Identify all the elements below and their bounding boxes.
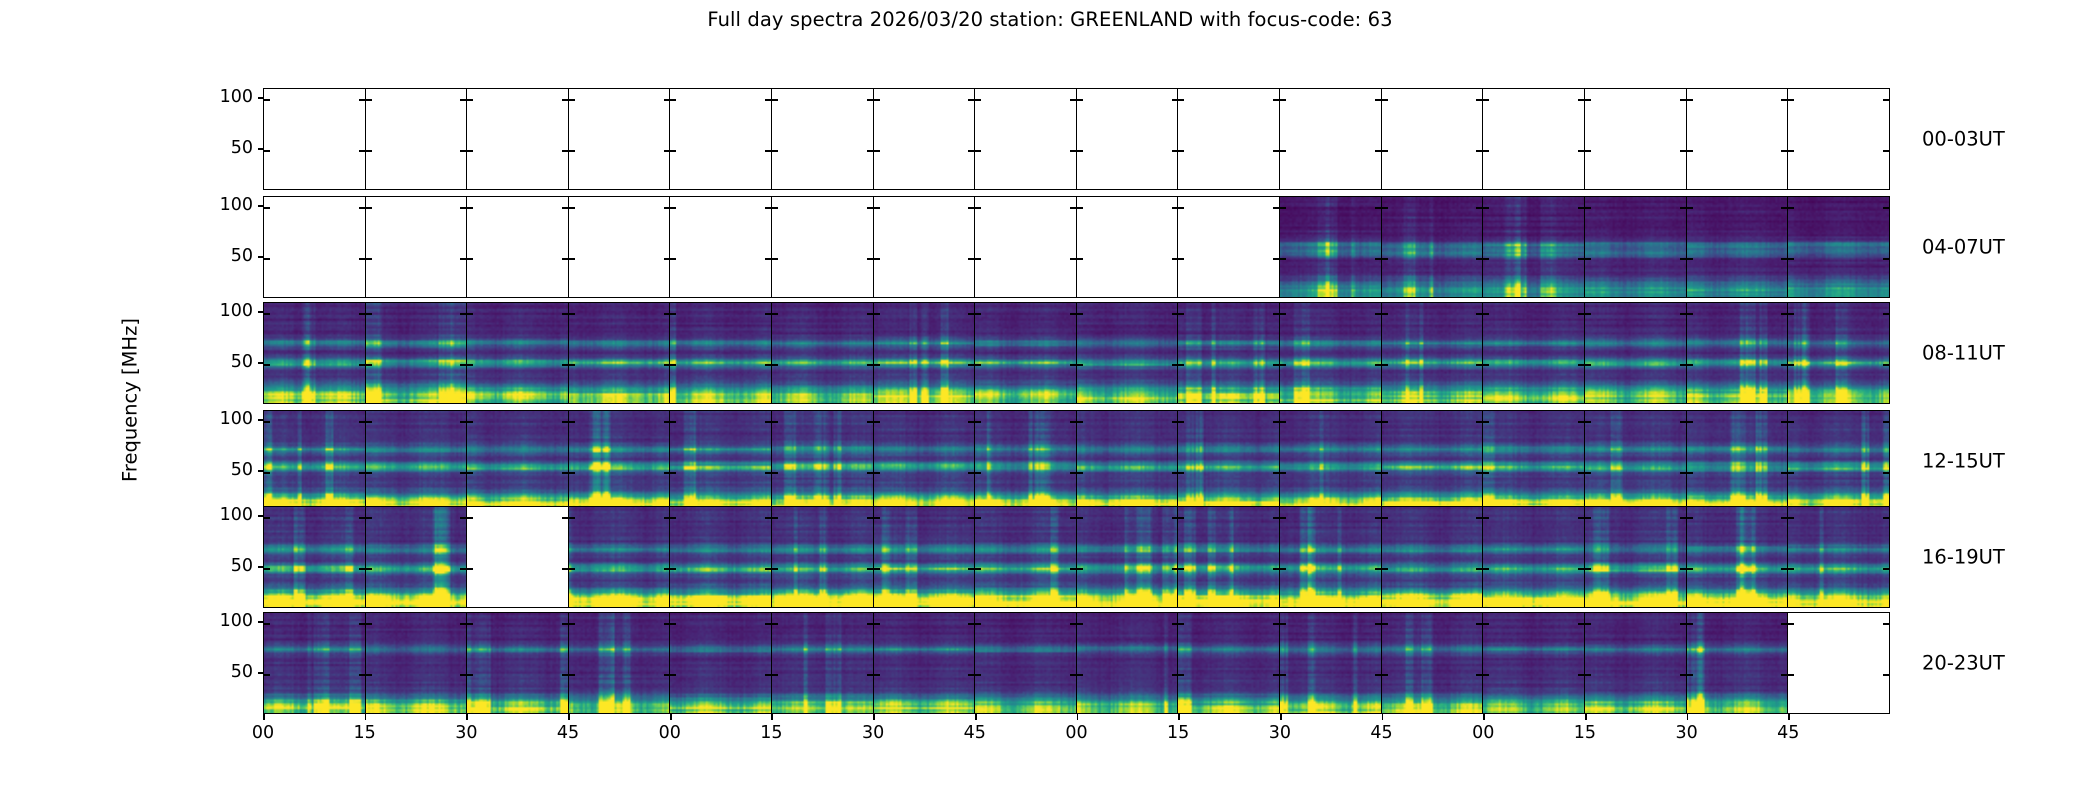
spectrogram-panel[interactable]: [365, 88, 468, 190]
y-tick-mark: [1280, 623, 1286, 625]
y-tick-mark: [562, 421, 568, 423]
y-tick-mark: [1883, 258, 1889, 260]
spectrogram-image: [1687, 303, 1788, 403]
spectrogram-panel[interactable]: [1076, 196, 1179, 298]
y-tick-mark: [562, 674, 568, 676]
spectrogram-image: [670, 303, 771, 403]
y-tick-mark: [1781, 517, 1787, 519]
spectrogram-panel[interactable]: [1686, 506, 1789, 608]
spectrogram-panel[interactable]: [1787, 612, 1890, 714]
spectrogram-panel[interactable]: [1584, 88, 1687, 190]
spectrogram-panel[interactable]: [974, 506, 1077, 608]
spectrogram-image: [1483, 613, 1584, 713]
spectrogram-panel[interactable]: [466, 88, 569, 190]
y-tick-mark: [867, 421, 873, 423]
y-tick-mark: [1585, 364, 1591, 366]
y-tick-mark: [467, 313, 473, 315]
y-tick-mark: [1172, 472, 1178, 474]
spectrogram-panel[interactable]: [263, 410, 366, 512]
y-tick-mark: [874, 421, 880, 423]
spectrogram-panel[interactable]: [1482, 410, 1585, 512]
spectrogram-panel[interactable]: [669, 302, 772, 404]
spectrogram-panel[interactable]: [669, 88, 772, 190]
spectrogram-panel[interactable]: [1686, 410, 1789, 512]
y-tick-mark: [569, 150, 575, 152]
x-tick-label: 00: [1472, 723, 1494, 743]
spectrogram-panel[interactable]: [1787, 410, 1890, 512]
y-tick-mark: [1483, 472, 1489, 474]
y-tick-mark: [1687, 674, 1693, 676]
y-tick-mark: [975, 207, 981, 209]
y-tick-mark: [1280, 472, 1286, 474]
spectrogram-panel[interactable]: [669, 196, 772, 298]
y-tick-mark: [867, 568, 873, 570]
y-tick-mark: [1788, 674, 1794, 676]
y-tick-mark: [1273, 421, 1279, 423]
y-tick-mark: [975, 364, 981, 366]
y-tick-mark: [258, 515, 264, 517]
spectrogram-panel[interactable]: [263, 506, 366, 608]
y-tick-mark: [264, 472, 270, 474]
y-tick-mark: [670, 207, 676, 209]
spectrogram-image: [1382, 303, 1483, 403]
spectrogram-image: [1483, 507, 1584, 607]
spectrogram-panel[interactable]: [1482, 88, 1585, 190]
y-tick-mark: [1070, 258, 1076, 260]
y-tick-mark: [1178, 207, 1184, 209]
x-tick-label: 45: [1370, 723, 1392, 743]
y-tick-mark: [1273, 150, 1279, 152]
y-tick-mark: [1680, 313, 1686, 315]
y-tick-mark: [1172, 258, 1178, 260]
spectrogram-panel[interactable]: [771, 302, 874, 404]
y-tick-mark: [1077, 364, 1083, 366]
spectrogram-image: [1178, 411, 1279, 511]
y-tick-mark: [460, 568, 466, 570]
y-tick-mark: [569, 517, 575, 519]
spectrogram-panel[interactable]: [1076, 612, 1179, 714]
y-tick-mark: [664, 517, 670, 519]
spectrogram-panel[interactable]: [1482, 612, 1585, 714]
y-tick-mark: [1578, 150, 1584, 152]
spectrogram-panel[interactable]: [466, 196, 569, 298]
spectrogram-panel[interactable]: [669, 612, 772, 714]
y-tick-label: 50: [231, 460, 253, 480]
y-tick-mark: [1172, 421, 1178, 423]
y-tick-mark: [366, 258, 372, 260]
spectrogram-image: [670, 411, 771, 511]
spectrogram-panel[interactable]: [1177, 506, 1280, 608]
y-tick-mark: [366, 517, 372, 519]
y-tick-mark: [1788, 258, 1794, 260]
y-tick-mark: [1178, 568, 1184, 570]
y-tick-mark: [1273, 472, 1279, 474]
y-tick-mark: [1680, 99, 1686, 101]
spectrogram-panel[interactable]: [771, 88, 874, 190]
y-tick-mark: [1375, 623, 1381, 625]
y-tick-mark: [1788, 313, 1794, 315]
y-tick-mark: [765, 313, 771, 315]
y-tick-mark: [1483, 313, 1489, 315]
y-tick-mark: [968, 568, 974, 570]
spectrogram-image: [1687, 411, 1788, 511]
spectrogram-panel[interactable]: [1787, 302, 1890, 404]
y-tick-mark: [460, 517, 466, 519]
y-tick-mark: [874, 258, 880, 260]
spectrogram-image: [772, 507, 873, 607]
spectrogram-panel[interactable]: [466, 506, 569, 608]
y-tick-mark: [1280, 99, 1286, 101]
spectrogram-panel[interactable]: [1686, 302, 1789, 404]
spectrogram-panel[interactable]: [466, 612, 569, 714]
y-tick-mark: [460, 313, 466, 315]
spectrogram-image: [1280, 411, 1381, 511]
spectrogram-image: [772, 303, 873, 403]
spectrogram-panel[interactable]: [873, 410, 976, 512]
y-tick-mark: [467, 623, 473, 625]
y-tick-mark: [1578, 99, 1584, 101]
spectrogram-panel[interactable]: [1076, 506, 1179, 608]
spectrogram-panel[interactable]: [466, 410, 569, 512]
x-tick-label: 45: [964, 723, 986, 743]
spectrogram-panel[interactable]: [1381, 88, 1484, 190]
y-tick-mark: [664, 207, 670, 209]
spectrogram-image: [1483, 197, 1584, 297]
spectrogram-image: [670, 507, 771, 607]
y-tick-mark: [264, 568, 270, 570]
y-tick-mark: [1273, 99, 1279, 101]
y-tick-mark: [1883, 313, 1889, 315]
spectrogram-panel[interactable]: [1686, 196, 1789, 298]
y-tick-mark: [1178, 99, 1184, 101]
y-tick-mark: [664, 99, 670, 101]
y-tick-mark: [1382, 472, 1388, 474]
y-tick-mark: [670, 674, 676, 676]
spectrogram-panel[interactable]: [1381, 410, 1484, 512]
spectrogram-panel[interactable]: [1279, 196, 1382, 298]
row-panels: [263, 302, 1890, 404]
y-tick-mark: [1382, 150, 1388, 152]
y-tick-mark: [874, 364, 880, 366]
spectrogram-panel[interactable]: [1787, 88, 1890, 190]
y-tick-mark: [1781, 207, 1787, 209]
y-tick-mark: [1883, 207, 1889, 209]
spectrogram-panel[interactable]: [669, 506, 772, 608]
y-tick-mark: [1382, 364, 1388, 366]
spectrogram-panel[interactable]: [974, 88, 1077, 190]
spectrogram-panel[interactable]: [1279, 410, 1382, 512]
y-tick-mark: [1883, 150, 1889, 152]
y-tick-mark: [366, 472, 372, 474]
spectrogram-panel[interactable]: [1177, 612, 1280, 714]
spectrogram-panel[interactable]: [1482, 302, 1585, 404]
spectrogram-panel[interactable]: [974, 196, 1077, 298]
y-tick-mark: [1883, 421, 1889, 423]
y-tick-label: 50: [231, 138, 253, 158]
row-time-label: 04-07UT: [1922, 236, 2005, 259]
spectrogram-panel[interactable]: [873, 302, 976, 404]
y-tick-mark: [1578, 623, 1584, 625]
y-tick-mark: [1172, 99, 1178, 101]
spectrogram-panel[interactable]: [568, 88, 671, 190]
y-tick-mark: [1273, 364, 1279, 366]
spectrogram-panel[interactable]: [771, 410, 874, 512]
y-tick-mark: [569, 258, 575, 260]
spectrogram-image: [1382, 411, 1483, 511]
spectrogram-image: [1178, 613, 1279, 713]
spectrogram-panel[interactable]: [1686, 88, 1789, 190]
y-tick-mark: [1585, 674, 1591, 676]
spectrogram-panel[interactable]: [466, 302, 569, 404]
y-tick-mark: [569, 207, 575, 209]
spectrogram-panel[interactable]: [263, 88, 366, 190]
spectrogram-panel[interactable]: [1076, 410, 1179, 512]
y-tick-mark: [1375, 150, 1381, 152]
spectrogram-panel[interactable]: [1381, 506, 1484, 608]
y-tick-mark: [1476, 364, 1482, 366]
y-tick-mark: [1382, 517, 1388, 519]
y-tick-mark: [1788, 472, 1794, 474]
spectrogram-panel[interactable]: [974, 302, 1077, 404]
spectrogram-panel[interactable]: [365, 612, 468, 714]
y-tick-mark: [1476, 258, 1482, 260]
y-tick-mark: [664, 150, 670, 152]
spectrogram-panel[interactable]: [263, 612, 366, 714]
y-tick-mark: [874, 568, 880, 570]
y-tick-mark: [968, 517, 974, 519]
y-tick-mark: [1375, 258, 1381, 260]
spectrogram-panel[interactable]: [1177, 302, 1280, 404]
spectrogram-row: 50100: [263, 506, 1890, 608]
y-tick-mark: [765, 568, 771, 570]
spectrogram-panel[interactable]: [1177, 196, 1280, 298]
y-tick-mark: [460, 207, 466, 209]
spectrogram-panel[interactable]: [365, 302, 468, 404]
x-tick-label: 15: [354, 723, 376, 743]
y-tick-mark: [975, 674, 981, 676]
x-tick-label: 15: [1574, 723, 1596, 743]
spectrogram-panel[interactable]: [669, 410, 772, 512]
spectrogram-panel[interactable]: [1584, 302, 1687, 404]
y-tick-mark: [1687, 150, 1693, 152]
spectrogram-panel[interactable]: [568, 506, 671, 608]
y-tick-mark: [1788, 364, 1794, 366]
y-tick-mark: [460, 674, 466, 676]
y-tick-mark: [467, 207, 473, 209]
y-axis-label: Frequency [MHz]: [119, 318, 142, 482]
y-tick-mark: [1883, 99, 1889, 101]
y-tick-mark: [765, 623, 771, 625]
y-tick-mark: [772, 472, 778, 474]
y-tick-mark: [867, 207, 873, 209]
y-tick-mark: [1788, 623, 1794, 625]
y-tick-mark: [765, 99, 771, 101]
x-tick-mark: [365, 714, 367, 720]
y-tick-mark: [359, 517, 365, 519]
spectrogram-panel[interactable]: [1177, 88, 1280, 190]
y-tick-mark: [670, 623, 676, 625]
x-tick-label: 00: [252, 723, 274, 743]
y-tick-mark: [765, 150, 771, 152]
x-tick-mark: [466, 714, 468, 720]
spectrogram-image: [1382, 507, 1483, 607]
y-tick-mark: [1680, 517, 1686, 519]
y-tick-label: 100: [220, 611, 253, 631]
spectrogram-panel[interactable]: [873, 196, 976, 298]
y-tick-mark: [1781, 150, 1787, 152]
y-tick-mark: [359, 99, 365, 101]
spectrogram-panel[interactable]: [1584, 410, 1687, 512]
y-tick-mark: [1578, 472, 1584, 474]
spectrogram-image: [569, 507, 670, 607]
spectrogram-image: [569, 411, 670, 511]
spectrogram-panel[interactable]: [1279, 302, 1382, 404]
y-tick-mark: [867, 313, 873, 315]
spectrogram-panel[interactable]: [873, 506, 976, 608]
spectrogram-panel[interactable]: [974, 410, 1077, 512]
y-tick-mark: [1375, 472, 1381, 474]
y-tick-mark: [1077, 421, 1083, 423]
y-tick-mark: [1585, 623, 1591, 625]
y-tick-label: 100: [220, 195, 253, 215]
y-tick-mark: [467, 568, 473, 570]
spectrogram-panel[interactable]: [1177, 410, 1280, 512]
y-tick-mark: [867, 517, 873, 519]
spectrogram-panel[interactable]: [1076, 302, 1179, 404]
y-tick-mark: [1178, 150, 1184, 152]
y-tick-mark: [1273, 623, 1279, 625]
y-tick-mark: [359, 421, 365, 423]
spectrogram-panel[interactable]: [974, 612, 1077, 714]
y-tick-mark: [1687, 421, 1693, 423]
spectrogram-image: [467, 613, 568, 713]
x-tick-label: 00: [1065, 723, 1087, 743]
spectrogram-panel[interactable]: [568, 612, 671, 714]
spectrogram-panel[interactable]: [365, 410, 468, 512]
spectrogram-row: 50100: [263, 302, 1890, 404]
spectrogram-panel[interactable]: [1482, 506, 1585, 608]
spectrogram-panel[interactable]: [365, 196, 468, 298]
y-tick-mark: [1585, 99, 1591, 101]
spectrogram-image: [1280, 613, 1381, 713]
x-tick-label: 15: [760, 723, 782, 743]
spectrogram-panel[interactable]: [568, 410, 671, 512]
y-tick-mark: [1788, 150, 1794, 152]
spectrogram-image: [1585, 613, 1686, 713]
y-tick-mark: [1788, 568, 1794, 570]
y-tick-mark: [1476, 472, 1482, 474]
y-tick-mark: [264, 258, 270, 260]
y-tick-mark: [1070, 364, 1076, 366]
spectrogram-panel[interactable]: [873, 88, 976, 190]
y-tick-mark: [874, 674, 880, 676]
spectrogram-panel[interactable]: [1279, 88, 1382, 190]
spectrogram-panel[interactable]: [1584, 196, 1687, 298]
y-tick-mark: [1476, 150, 1482, 152]
y-tick-mark: [1483, 258, 1489, 260]
y-tick-mark: [867, 623, 873, 625]
spectrogram-panel[interactable]: [263, 302, 366, 404]
spectrogram-panel[interactable]: [568, 302, 671, 404]
spectrogram-row: 50100: [263, 410, 1890, 512]
y-tick-mark: [1788, 99, 1794, 101]
spectrogram-panel[interactable]: [771, 196, 874, 298]
spectrogram-panel[interactable]: [1787, 196, 1890, 298]
y-tick-mark: [1585, 313, 1591, 315]
y-tick-mark: [264, 421, 270, 423]
y-tick-mark: [569, 623, 575, 625]
y-tick-mark: [562, 568, 568, 570]
y-tick-mark: [975, 421, 981, 423]
y-tick-mark: [1578, 568, 1584, 570]
spectrogram-panel[interactable]: [1787, 506, 1890, 608]
spectrogram-image: [975, 303, 1076, 403]
x-tick-label: 00: [659, 723, 681, 743]
y-tick-mark: [1687, 568, 1693, 570]
y-tick-mark: [874, 517, 880, 519]
y-tick-mark: [1070, 150, 1076, 152]
y-tick-mark: [1382, 207, 1388, 209]
y-tick-mark: [975, 623, 981, 625]
spectrogram-image: [569, 303, 670, 403]
y-tick-mark: [1585, 207, 1591, 209]
spectrogram-panel[interactable]: [1584, 506, 1687, 608]
y-tick-mark: [460, 623, 466, 625]
spectrogram-image: [1382, 197, 1483, 297]
spectrogram-image: [366, 303, 467, 403]
spectrogram-panel[interactable]: [1381, 612, 1484, 714]
y-tick-mark: [1375, 313, 1381, 315]
spectrogram-figure: Full day spectra 2026/03/20 station: GRE…: [0, 0, 2100, 800]
spectrogram-panel[interactable]: [1279, 612, 1382, 714]
y-tick-mark: [569, 364, 575, 366]
spectrogram-panel[interactable]: [771, 506, 874, 608]
spectrogram-panel[interactable]: [1076, 88, 1179, 190]
y-tick-mark: [1781, 364, 1787, 366]
y-tick-mark: [1585, 421, 1591, 423]
spectrogram-panel[interactable]: [1381, 196, 1484, 298]
spectrogram-panel[interactable]: [1584, 612, 1687, 714]
spectrogram-panel[interactable]: [873, 612, 976, 714]
y-tick-mark: [1883, 568, 1889, 570]
y-tick-mark: [258, 311, 264, 313]
spectrogram-panel[interactable]: [1686, 612, 1789, 714]
y-tick-mark: [1375, 364, 1381, 366]
y-tick-mark: [772, 150, 778, 152]
spectrogram-image: [1178, 303, 1279, 403]
spectrogram-panel[interactable]: [365, 506, 468, 608]
spectrogram-image: [1483, 303, 1584, 403]
spectrogram-image: [1178, 507, 1279, 607]
y-tick-mark: [569, 674, 575, 676]
y-tick-mark: [1172, 364, 1178, 366]
y-tick-mark: [1483, 150, 1489, 152]
spectrogram-panel[interactable]: [1279, 506, 1382, 608]
spectrogram-panel[interactable]: [568, 196, 671, 298]
spectrogram-panel[interactable]: [1381, 302, 1484, 404]
y-tick-mark: [562, 623, 568, 625]
row-time-label: 08-11UT: [1922, 342, 2005, 365]
spectrogram-image: [1788, 411, 1889, 511]
y-tick-mark: [1585, 568, 1591, 570]
spectrogram-panel[interactable]: [1482, 196, 1585, 298]
spectrogram-image: [1483, 411, 1584, 511]
spectrogram-panel[interactable]: [263, 196, 366, 298]
y-tick-mark: [359, 258, 365, 260]
y-tick-mark: [366, 150, 372, 152]
spectrogram-panel[interactable]: [771, 612, 874, 714]
spectrogram-image: [874, 613, 975, 713]
